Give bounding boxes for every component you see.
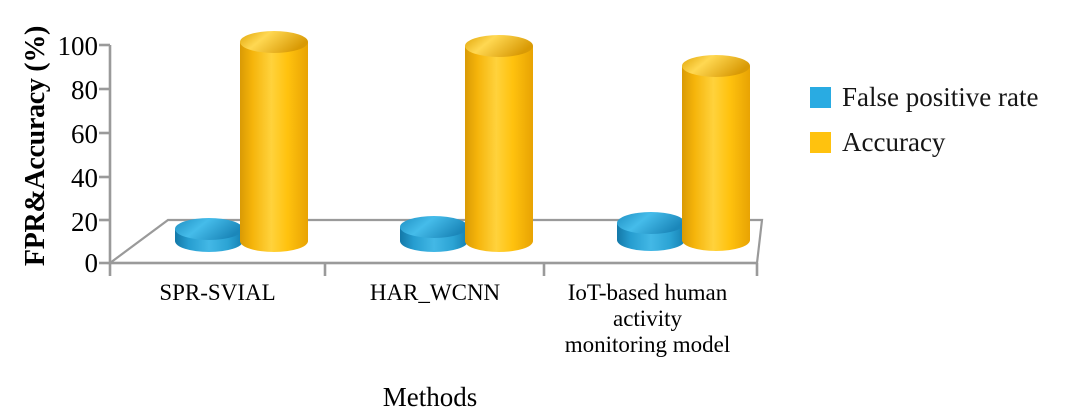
bar-false-positive-rate-spr-svial[interactable]	[175, 218, 243, 252]
x-category-label-iot-based-model: IoT-based human activity monitoring mode…	[540, 280, 755, 357]
legend-swatch-icon	[810, 132, 831, 153]
x-axis-title: Methods	[280, 382, 580, 413]
x-category-label-har-wcnn: HAR_WCNN	[350, 280, 520, 306]
x-axis	[110, 263, 757, 276]
bar-accuracy-har-wcnn[interactable]	[465, 35, 533, 252]
plot-area	[0, 0, 1077, 415]
y-axis	[99, 45, 110, 263]
legend-item-false-positive-rate[interactable]: False positive rate	[810, 82, 1038, 113]
chart-container: FPR&Accuracy (%) 100 80 60 40 20 0	[0, 0, 1077, 415]
category-label-line: monitoring model	[540, 332, 755, 358]
bar-false-positive-rate-har-wcnn[interactable]	[400, 216, 468, 252]
legend-label: False positive rate	[842, 82, 1038, 113]
bar-false-positive-rate-iot-based-model[interactable]	[617, 212, 685, 251]
category-label-line: SPR-SVIAL	[135, 280, 300, 306]
category-label-line: HAR_WCNN	[350, 280, 520, 306]
category-label-line: IoT-based human	[540, 280, 755, 306]
x-category-label-spr-svial: SPR-SVIAL	[135, 280, 300, 306]
legend-label: Accuracy	[842, 127, 945, 158]
bar-accuracy-iot-based-model[interactable]	[682, 55, 750, 251]
category-label-line: activity	[540, 306, 755, 332]
legend-item-accuracy[interactable]: Accuracy	[810, 127, 1038, 158]
legend-swatch-icon	[810, 87, 831, 108]
bar-accuracy-spr-svial[interactable]	[240, 31, 308, 252]
chart-legend: False positive rate Accuracy	[810, 82, 1038, 172]
